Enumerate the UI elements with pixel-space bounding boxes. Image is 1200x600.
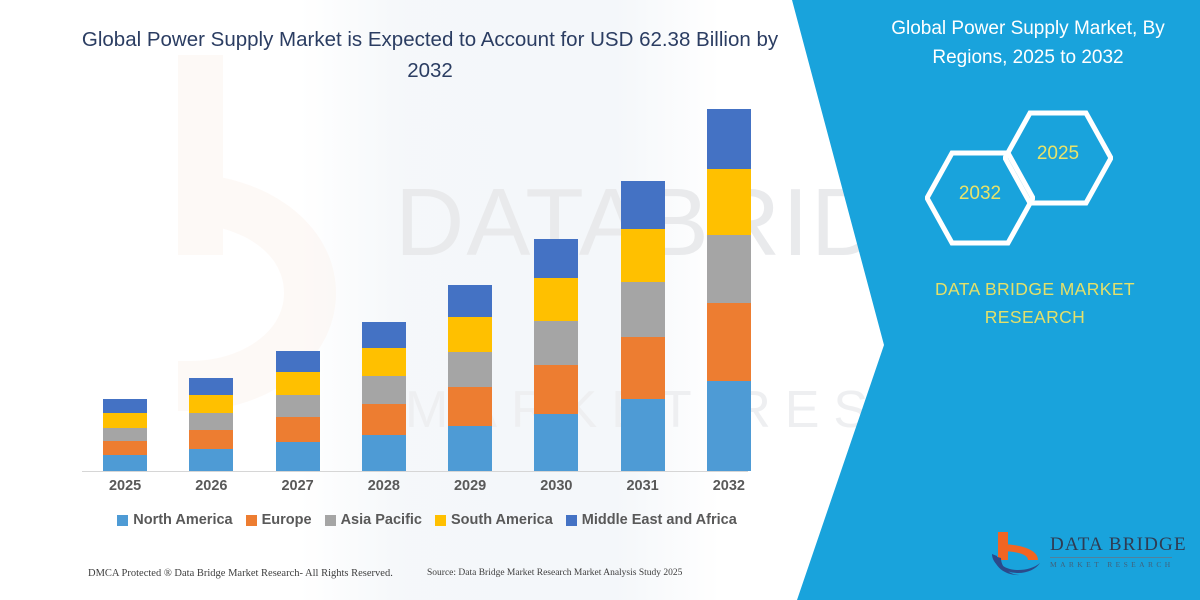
bar-segment [534, 239, 578, 278]
chart-title: Global Power Supply Market is Expected t… [60, 24, 800, 86]
legend-swatch-icon [246, 515, 257, 526]
legend-item[interactable]: Middle East and Africa [566, 512, 737, 528]
bar-segment [362, 435, 406, 471]
legend-item[interactable]: Asia Pacific [325, 512, 422, 528]
stacked-bar [707, 109, 751, 471]
bar-column [82, 120, 168, 471]
legend-item[interactable]: Europe [246, 512, 312, 528]
logo-divider [1050, 557, 1172, 558]
bar-segment [276, 372, 320, 395]
logo-line-2: MARKET RESEARCH [1050, 560, 1178, 570]
bar-segment [362, 348, 406, 376]
bar-segment [276, 417, 320, 442]
panel-brand-text: DATA BRIDGE MARKET RESEARCH [900, 275, 1170, 331]
legend-swatch-icon [566, 515, 577, 526]
bar-segment [276, 442, 320, 471]
x-axis-label: 2031 [600, 478, 686, 494]
bar-segment [448, 285, 492, 317]
legend-label: South America [451, 512, 553, 528]
x-axis-label: 2028 [341, 478, 427, 494]
legend-item[interactable]: North America [117, 512, 232, 528]
bar-segment [103, 455, 147, 471]
bar-segment [362, 404, 406, 435]
bar-column [686, 120, 772, 471]
stacked-bar [534, 239, 578, 471]
x-axis-line [82, 471, 748, 472]
bar-segment [534, 414, 578, 471]
bar-segment [448, 352, 492, 387]
chart-legend: North AmericaEuropeAsia PacificSouth Ame… [82, 512, 772, 528]
panel-brand-line-2: RESEARCH [900, 303, 1170, 331]
data-bridge-logo: DATA BRIDGE MARKET RESEARCH [988, 528, 1178, 580]
data-bridge-logo-text: DATA BRIDGE MARKET RESEARCH [1050, 534, 1178, 570]
bar-segment [707, 169, 751, 235]
legend-label: Middle East and Africa [582, 512, 737, 528]
stacked-bar [103, 399, 147, 471]
bar-segment [707, 235, 751, 303]
bar-segment [621, 399, 665, 471]
legend-label: Europe [262, 512, 312, 528]
bar-column [600, 120, 686, 471]
bar-column [513, 120, 599, 471]
data-bridge-logo-mark [988, 530, 1044, 578]
x-axis-label: 2030 [513, 478, 599, 494]
bar-segment [103, 428, 147, 441]
bar-segment [621, 337, 665, 399]
bar-segment [189, 395, 233, 413]
bar-segment [707, 381, 751, 471]
x-axis-label: 2025 [82, 478, 168, 494]
legend-swatch-icon [325, 515, 336, 526]
legend-label: North America [133, 512, 232, 528]
footer-source: Source: Data Bridge Market Research Mark… [427, 568, 682, 578]
bar-segment [448, 317, 492, 352]
x-axis-label: 2029 [427, 478, 513, 494]
footer: DMCA Protected ® Data Bridge Market Rese… [0, 568, 790, 590]
x-axis-labels: 20252026202720282029203020312032 [82, 478, 772, 494]
bar-segment [276, 395, 320, 417]
stacked-bar [276, 351, 320, 471]
stacked-bar [189, 378, 233, 471]
bar-column [427, 120, 513, 471]
bar-segment [103, 441, 147, 455]
bar-segment [621, 282, 665, 337]
bar-segment [189, 378, 233, 395]
x-axis-label: 2027 [255, 478, 341, 494]
legend-swatch-icon [117, 515, 128, 526]
stacked-bar-chart [82, 120, 772, 471]
stacked-bar [448, 285, 492, 471]
bar-segment [362, 322, 406, 348]
legend-item[interactable]: South America [435, 512, 553, 528]
panel-title: Global Power Supply Market, By Regions, … [868, 14, 1188, 72]
bar-segment [103, 413, 147, 428]
bar-column [341, 120, 427, 471]
hexagon-group: 2032 2025 [925, 108, 1115, 233]
bar-segment [534, 278, 578, 321]
bar-segment [621, 229, 665, 282]
bar-segment [707, 303, 751, 381]
bar-column [255, 120, 341, 471]
bar-segment [707, 109, 751, 169]
bar-segment [189, 413, 233, 430]
bar-segment [448, 387, 492, 426]
panel-brand-line-1: DATA BRIDGE MARKET [900, 275, 1170, 303]
bar-segment [189, 449, 233, 471]
bar-column [168, 120, 254, 471]
hexagon-2025-label: 2025 [1021, 143, 1095, 165]
bar-segment [448, 426, 492, 471]
legend-label: Asia Pacific [341, 512, 422, 528]
infographic-canvas: DATABRIDGE MARKET RESEARCH Global Power … [0, 0, 1200, 600]
logo-line-1: DATA BRIDGE [1050, 534, 1178, 556]
bar-segment [189, 430, 233, 449]
x-axis-label: 2026 [168, 478, 254, 494]
bar-segment [103, 399, 147, 413]
bar-segment [534, 321, 578, 365]
footer-copyright: DMCA Protected ® Data Bridge Market Rese… [88, 568, 393, 579]
bar-segment [621, 181, 665, 229]
stacked-bar [621, 181, 665, 471]
bar-segment [362, 376, 406, 404]
bar-segment [534, 365, 578, 414]
bar-segment [276, 351, 320, 372]
x-axis-label: 2032 [686, 478, 772, 494]
legend-swatch-icon [435, 515, 446, 526]
stacked-bar [362, 322, 406, 471]
